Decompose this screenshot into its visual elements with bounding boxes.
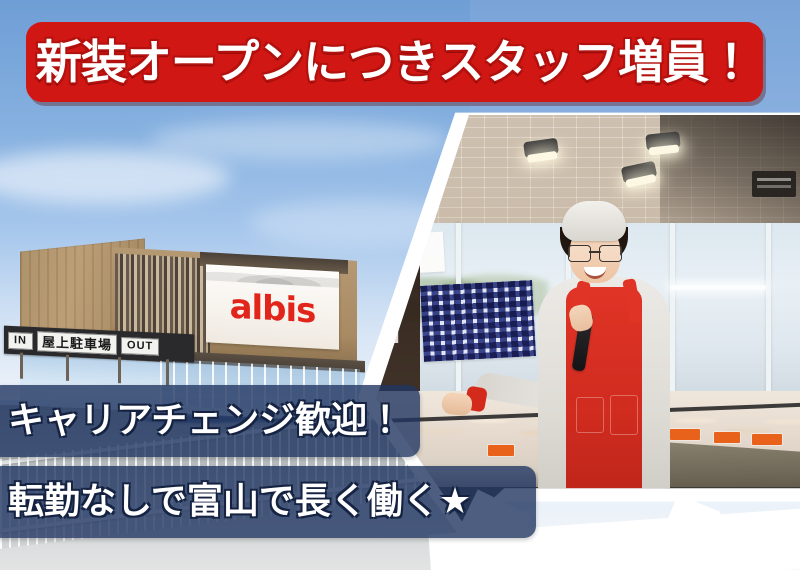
- spotlight-icon: [645, 131, 680, 150]
- headline-text: 新装オープンにつきスタッフ増員！: [36, 39, 753, 85]
- spotlight-icon: [523, 138, 559, 159]
- ceiling-sign: [752, 171, 796, 197]
- apron-pocket: [610, 395, 638, 435]
- parking-jp-plate: 屋上駐車場: [37, 331, 117, 355]
- price-tag: [488, 445, 514, 456]
- staff-member: [530, 201, 680, 525]
- tube-light: [670, 285, 766, 290]
- price-tag: [714, 432, 740, 443]
- eyeglasses-icon: [568, 245, 622, 260]
- parking-in-plate: IN: [8, 331, 33, 349]
- staff-hand: [441, 391, 473, 416]
- blue-patterned-cloth: [420, 280, 536, 362]
- albis-logo: albis: [230, 290, 316, 329]
- window-mullion: [766, 223, 771, 398]
- subheadline-text-1: キャリアチェンジ歓迎！: [8, 403, 403, 439]
- subheadline-banner-2: 転勤なしで富山で長く働く★: [0, 466, 536, 538]
- store-sign-panel: albis: [206, 264, 339, 349]
- staff-cap: [562, 201, 626, 241]
- headline-banner: 新装オープンにつきスタッフ増員！: [26, 22, 763, 102]
- parking-out-plate: OUT: [121, 336, 159, 355]
- price-tag: [752, 434, 782, 445]
- poster-canvas: albis IN 屋上駐車場 OUT: [0, 0, 800, 570]
- subheadline-banner-1: キャリアチェンジ歓迎！: [0, 385, 420, 457]
- apron-pocket: [576, 397, 604, 433]
- subheadline-text-2: 転勤なしで富山で長く働く★: [8, 484, 471, 520]
